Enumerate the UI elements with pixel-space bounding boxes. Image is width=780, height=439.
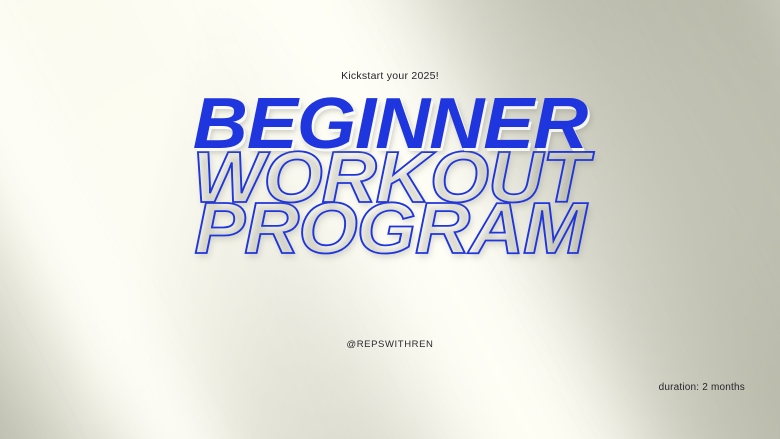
poster-content: Kickstart your 2025! BEGINNER WORKOUT PR… (0, 0, 780, 439)
poster-canvas: Kickstart your 2025! BEGINNER WORKOUT PR… (0, 0, 780, 439)
title-line-beginner: BEGINNER (0, 96, 780, 154)
social-handle: @REPSWITHREN (0, 339, 780, 350)
page-title: BEGINNER WORKOUT PROGRAM (0, 96, 780, 259)
duration-label: duration: 2 months (659, 382, 745, 393)
kicker-text: Kickstart your 2025! (0, 70, 780, 82)
